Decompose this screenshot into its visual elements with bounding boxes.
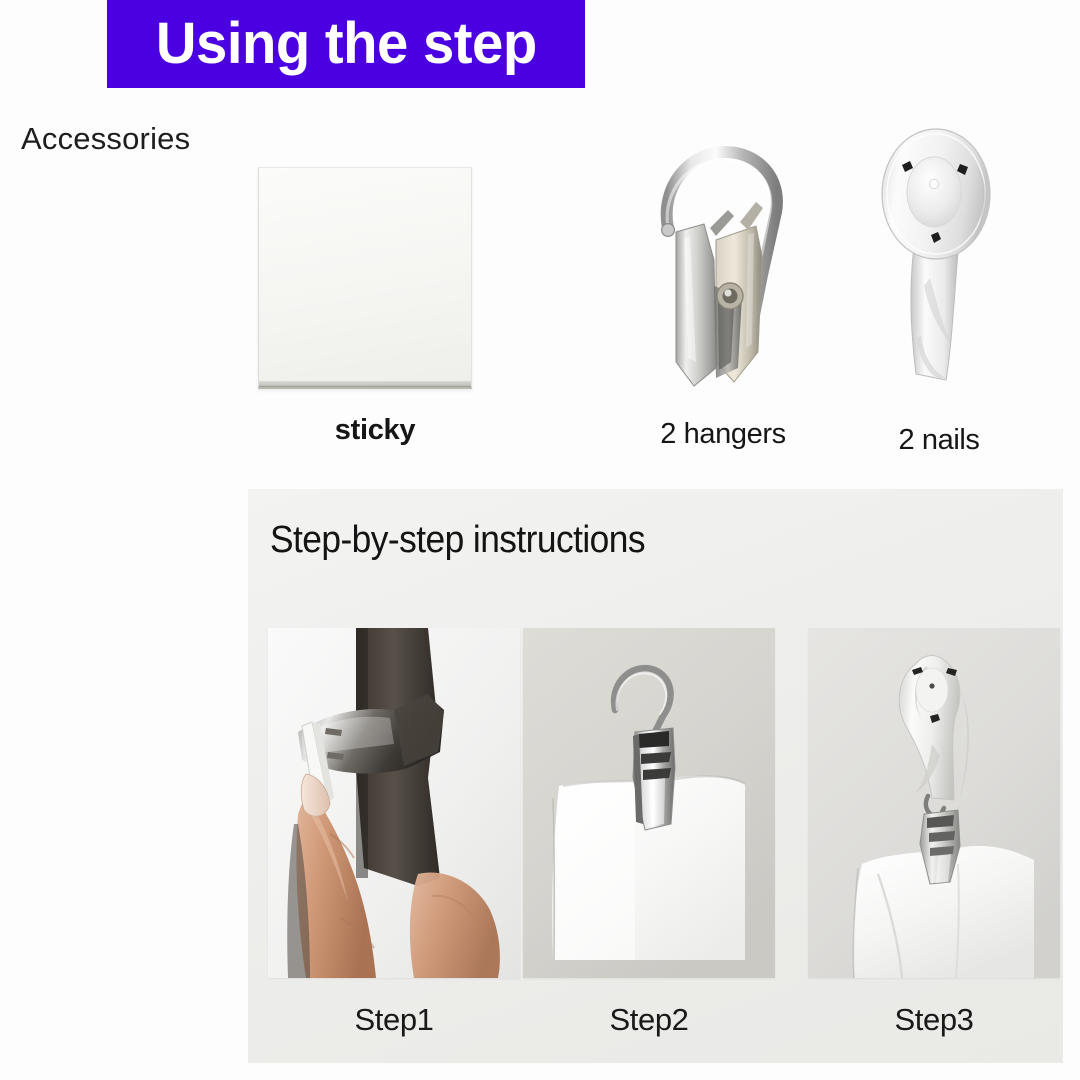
title-banner: Using the step — [107, 0, 585, 88]
step-caption-2: Step2 — [523, 1002, 775, 1038]
hanger-clip-icon — [630, 100, 820, 395]
accessories-section-label: Accessories — [21, 121, 190, 157]
accessory-caption-hangers: 2 hangers — [640, 418, 806, 451]
instructions-heading: Step-by-step instructions — [270, 519, 645, 562]
wall-hook-icon — [868, 128, 1018, 398]
step-caption-3: Step3 — [808, 1002, 1060, 1038]
infographic-page: Using the step Accessories sticky — [0, 0, 1080, 1080]
step-photo-frame-3 — [808, 628, 1060, 978]
accessory-caption-sticky: sticky — [300, 414, 450, 447]
step-caption-1: Step1 — [268, 1002, 520, 1038]
page-title: Using the step — [156, 15, 537, 73]
step-photo-frame-2 — [523, 628, 775, 978]
instructions-panel: Step-by-step instructions — [248, 489, 1063, 1063]
step-photo-frame-1 — [268, 628, 520, 978]
accessory-caption-nails: 2 nails — [880, 424, 998, 457]
adhesive-pad-icon — [258, 167, 472, 389]
